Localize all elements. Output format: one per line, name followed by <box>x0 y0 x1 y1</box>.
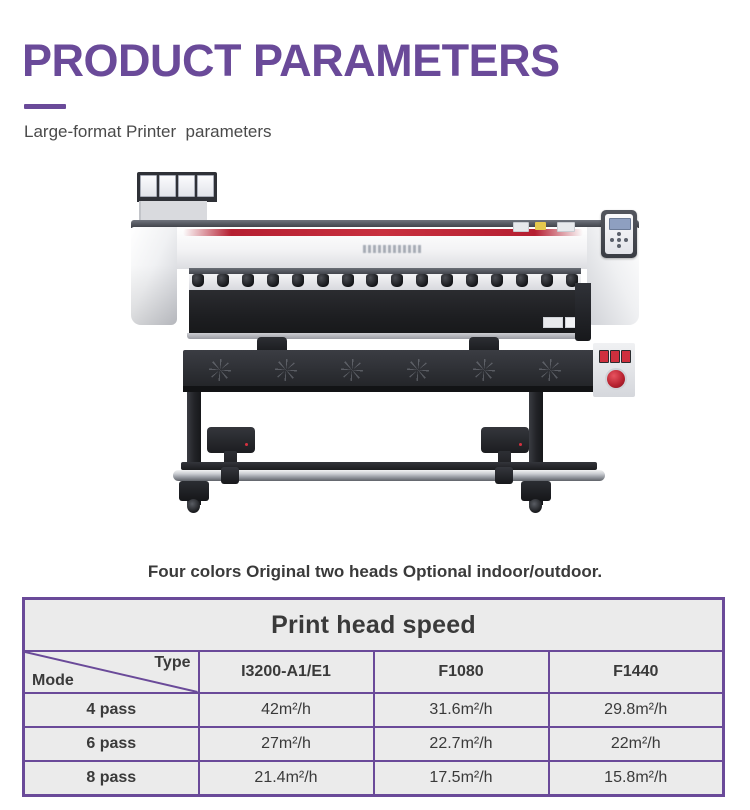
cell-value: 27m²/h <box>199 727 374 761</box>
pinch-roller <box>416 274 428 287</box>
stand-crossbar <box>181 462 597 470</box>
table-header-row: Type Mode I3200-A1/E1 F1080 F1440 <box>24 651 724 693</box>
pinch-roller <box>541 274 553 287</box>
pinch-roller <box>317 274 329 287</box>
body-sticker <box>557 222 575 232</box>
cell-value: 22m²/h <box>549 727 724 761</box>
caster-wheel <box>187 499 200 513</box>
stand-foot <box>179 481 209 501</box>
pinch-roller <box>342 274 354 287</box>
keypad-left-button[interactable] <box>610 238 614 242</box>
pinch-roller <box>366 274 378 287</box>
ink-bottle <box>178 175 195 197</box>
page-title: PRODUCT PARAMETERS <box>22 38 560 83</box>
pinch-roller <box>267 274 279 287</box>
fan-vent-icon <box>275 359 297 381</box>
pinch-roller <box>466 274 478 287</box>
left-end-cap-shadow <box>131 265 177 325</box>
control-panel[interactable] <box>601 210 637 258</box>
cell-value: 21.4m²/h <box>199 761 374 796</box>
column-header-1: F1080 <box>374 651 549 693</box>
rocker-switch[interactable] <box>621 350 631 363</box>
pinch-roller-strip <box>189 274 581 290</box>
ink-bottle <box>140 175 157 197</box>
table-corner-cell: Type Mode <box>24 651 199 693</box>
cell-value: 17.5m²/h <box>374 761 549 796</box>
title-underline-rule <box>24 104 66 109</box>
pinch-roller <box>292 274 304 287</box>
keypad-up-button[interactable] <box>617 232 621 236</box>
table-caption: Four colors Original two heads Optional … <box>0 562 750 582</box>
product-image <box>0 165 750 535</box>
print-head-speed-table: Print head speed Type Mode I3200-A1/E1 F… <box>22 597 725 797</box>
status-led <box>519 443 522 446</box>
fan-vent-icon <box>473 359 495 381</box>
column-header-2: F1440 <box>549 651 724 693</box>
table-row: 8 pass 21.4m²/h 17.5m²/h 15.8m²/h <box>24 761 724 796</box>
pinch-roller <box>441 274 453 287</box>
fan-vent-icon <box>209 359 231 381</box>
fan-vent-icon <box>407 359 429 381</box>
pinch-roller <box>516 274 528 287</box>
caster-wheel <box>529 499 542 513</box>
brand-logo-mark <box>363 245 423 253</box>
ink-bottle <box>197 175 214 197</box>
ink-bottle-group <box>140 175 214 197</box>
power-switch-panel[interactable] <box>593 343 635 397</box>
table-row: 6 pass 27m²/h 22.7m²/h 22m²/h <box>24 727 724 761</box>
warning-sticker <box>535 222 546 230</box>
take-up-collar <box>221 467 239 484</box>
platen-label-sticker <box>543 317 563 328</box>
right-side-post <box>575 283 591 341</box>
printer-illustration <box>125 165 645 535</box>
pinch-roller <box>242 274 254 287</box>
row-mode-label: 8 pass <box>24 761 199 796</box>
temperature-knob[interactable] <box>605 368 627 390</box>
keypad-down-button[interactable] <box>617 244 621 248</box>
status-led <box>245 443 248 446</box>
cell-value: 22.7m²/h <box>374 727 549 761</box>
fan-vent-icon <box>539 359 561 381</box>
column-header-0: I3200-A1/E1 <box>199 651 374 693</box>
cell-value: 15.8m²/h <box>549 761 724 796</box>
rocker-switch[interactable] <box>610 350 620 363</box>
pinch-roller <box>192 274 204 287</box>
page-subtitle: Large-format Printer parameters <box>24 122 272 142</box>
row-mode-label: 6 pass <box>24 727 199 761</box>
table-row: 4 pass 42m²/h 31.6m²/h 29.8m²/h <box>24 693 724 727</box>
row-mode-label: 4 pass <box>24 693 199 727</box>
stand-foot <box>521 481 551 501</box>
cell-value: 42m²/h <box>199 693 374 727</box>
table-title: Print head speed <box>24 599 724 652</box>
take-up-motor <box>207 427 255 453</box>
pinch-roller <box>491 274 503 287</box>
keypad-right-button[interactable] <box>624 238 628 242</box>
pinch-roller <box>391 274 403 287</box>
ink-cartridge-bay <box>137 172 217 202</box>
rocker-switch[interactable] <box>599 350 609 363</box>
platen <box>189 290 581 335</box>
control-panel-face <box>605 214 633 254</box>
corner-type-label: Type <box>154 654 190 672</box>
cell-value: 29.8m²/h <box>549 693 724 727</box>
take-up-collar <box>495 467 513 484</box>
corner-mode-label: Mode <box>32 672 74 690</box>
dryer-heater-bar <box>183 350 595 392</box>
cell-value: 31.6m²/h <box>374 693 549 727</box>
lcd-screen <box>609 218 631 230</box>
body-sticker <box>513 222 529 232</box>
pinch-roller <box>217 274 229 287</box>
keypad-ok-button[interactable] <box>617 238 621 242</box>
ink-bottle <box>159 175 176 197</box>
platen-lip <box>187 333 583 339</box>
keypad[interactable] <box>610 232 629 250</box>
take-up-motor <box>481 427 529 453</box>
fan-vent-icon <box>341 359 363 381</box>
